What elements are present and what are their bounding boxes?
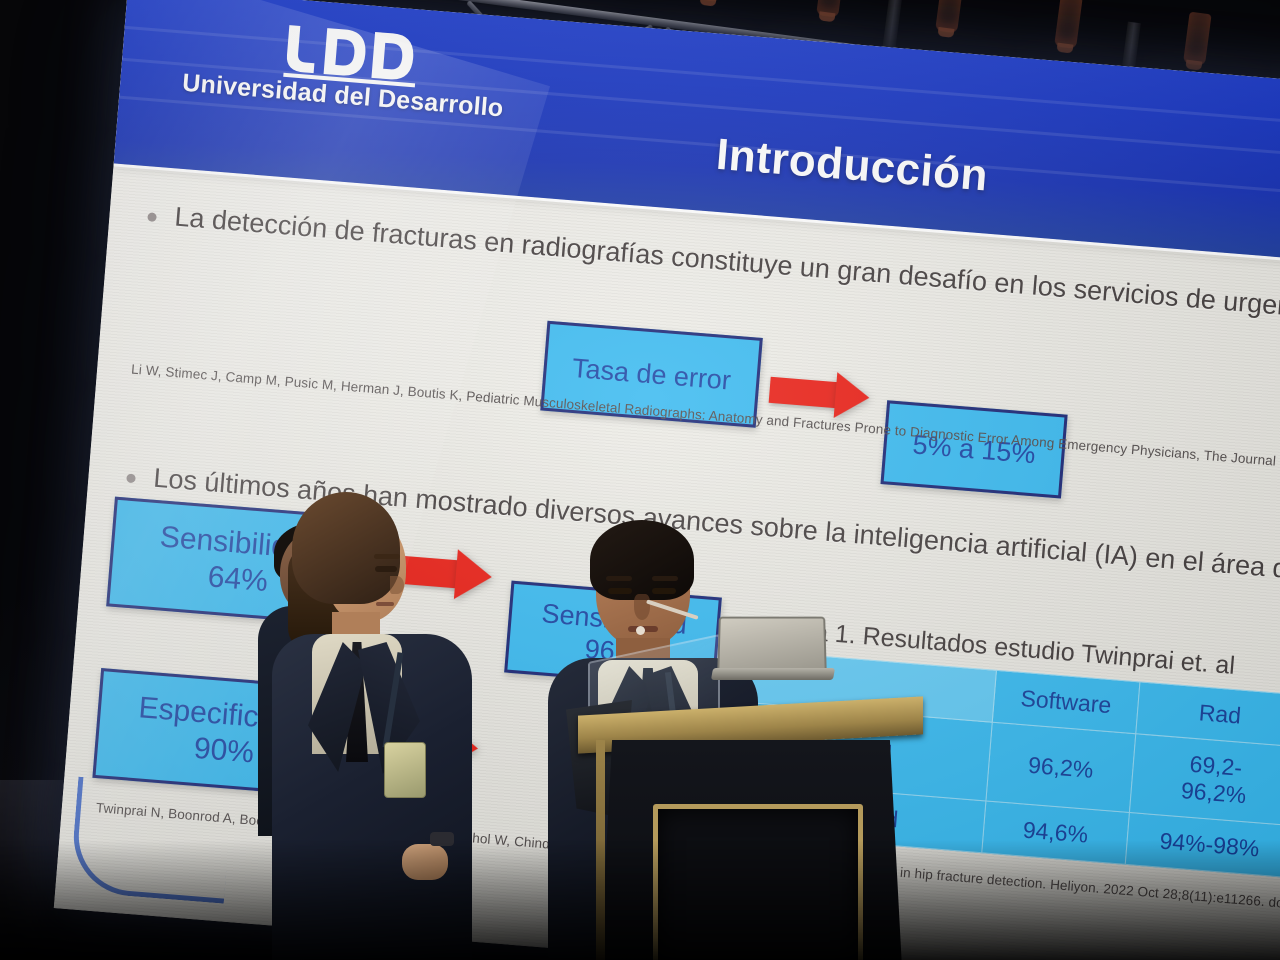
foreground-shadow xyxy=(0,840,1280,960)
eyebrow xyxy=(374,554,400,559)
stage-light xyxy=(697,0,726,2)
hair xyxy=(590,520,694,600)
hair xyxy=(292,492,400,604)
name-badge xyxy=(384,742,426,798)
table-cell-row0-col1: 96,2% xyxy=(986,722,1136,812)
mouth xyxy=(376,602,394,606)
nose xyxy=(390,576,404,594)
slide-title: Introducción xyxy=(714,130,990,202)
eye-left xyxy=(608,588,632,594)
presentation-photo: Universidad del Desarrollo Introducción … xyxy=(0,0,1280,960)
eyebrow-left xyxy=(606,576,632,581)
eye xyxy=(375,566,397,572)
laptop-keyboard xyxy=(711,668,835,680)
microphone-capsule xyxy=(636,626,645,635)
box-tasa-label: Tasa de error xyxy=(571,352,732,397)
bullet-dot-icon xyxy=(126,473,136,483)
bullet-dot-icon xyxy=(147,212,157,222)
eyebrow-right xyxy=(652,576,678,581)
presenter-laptop xyxy=(718,616,828,682)
nose xyxy=(634,594,650,620)
table-cell-row0-col2: 69,2-96,2% xyxy=(1129,734,1280,826)
eye-right xyxy=(652,588,676,594)
especificidad-value: 90% xyxy=(193,731,256,772)
